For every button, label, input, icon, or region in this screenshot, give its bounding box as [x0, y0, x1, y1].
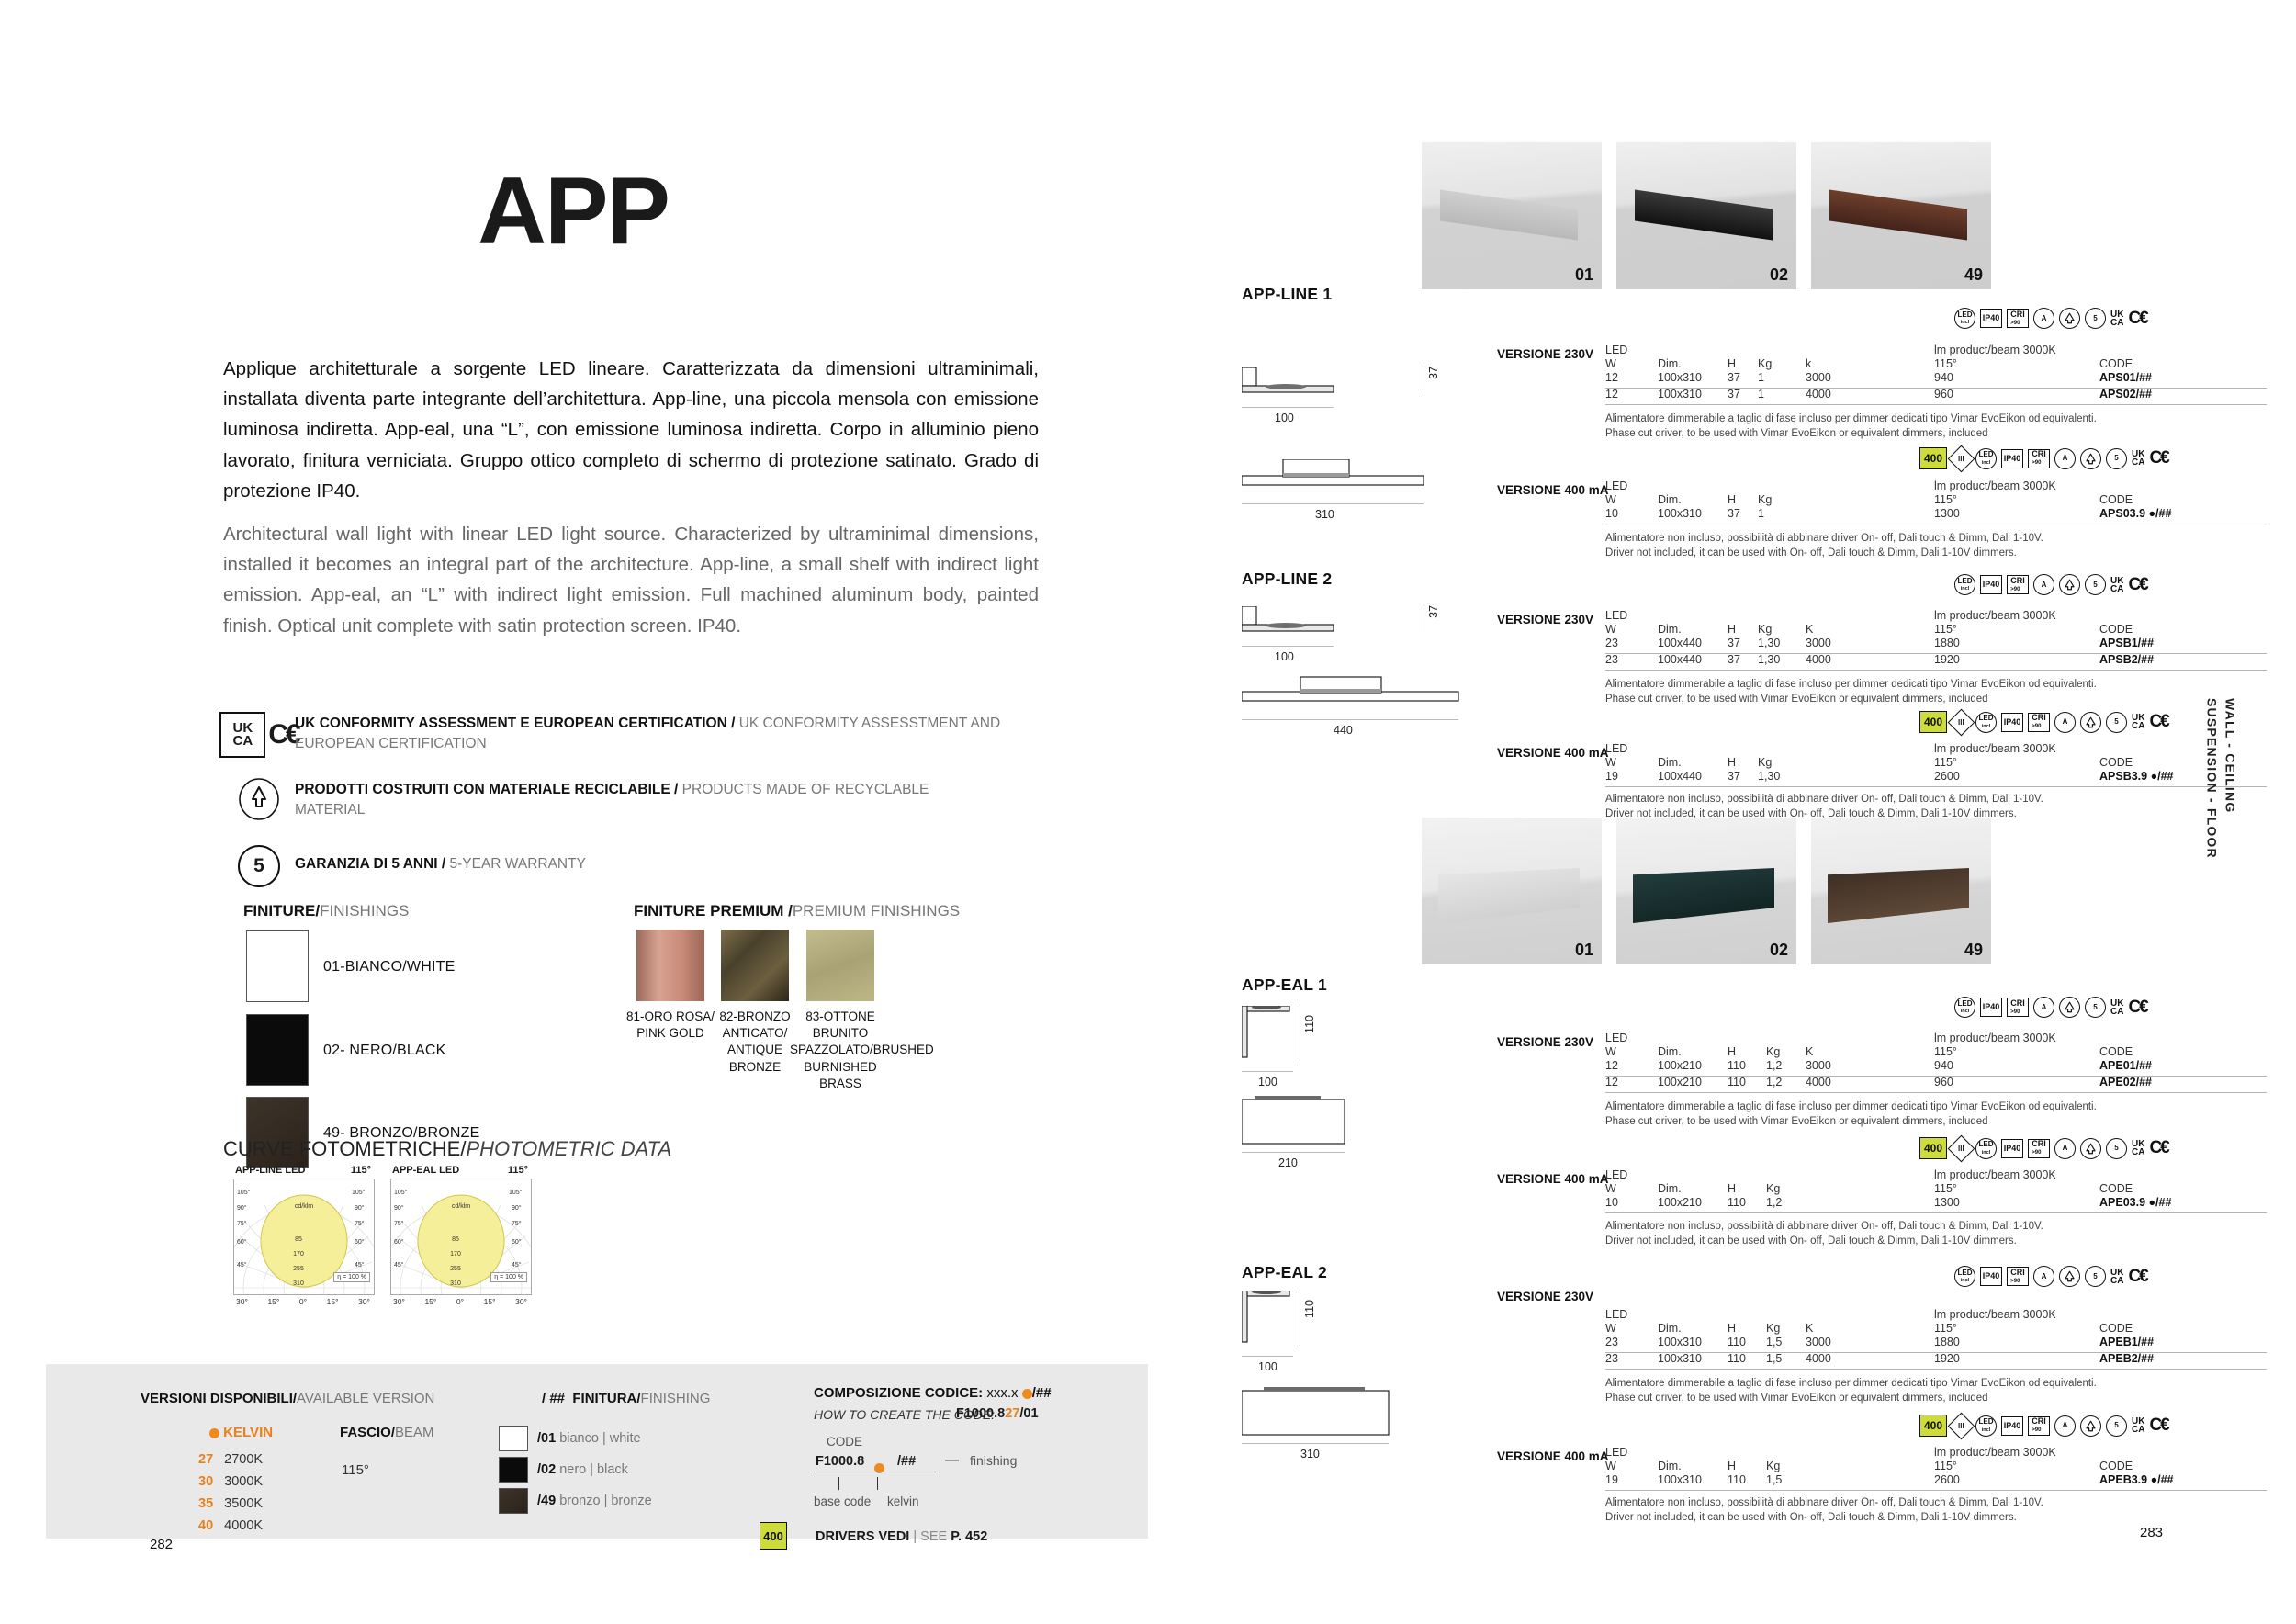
icon-row-app-eal-2-400ma: 400 III LEDincl IP40 CRI>90 A 5 UKCA C€	[1919, 1415, 2168, 1437]
recycle-icon	[2080, 1138, 2101, 1159]
kelvin-row-30: 303000K	[198, 1474, 263, 1489]
cri-icon: CRI>90	[2028, 1139, 2050, 1158]
model-label-app-line-2: APP-LINE 2	[1242, 570, 1332, 589]
cri-icon: CRI>90	[2028, 1416, 2050, 1436]
polar-beam-1: 115°	[508, 1165, 528, 1176]
premium-label-83: 83-OTTONE BRUNITO SPAZZOLATO/BRUSHED BUR…	[790, 1009, 891, 1092]
ip40-icon: IP40	[1980, 309, 2002, 328]
svg-text:75°: 75°	[512, 1220, 522, 1227]
cri-icon: CRI>90	[2007, 1267, 2029, 1286]
icon-row-app-line-2-400ma: 400 III LEDincl IP40 CRI>90 A 5 UKCA C€	[1919, 711, 2168, 733]
polar-efficiency-0: η = 100 %	[333, 1272, 370, 1282]
cert-row-warranty: 5 GARANZIA DI 5 ANNI / 5-YEAR WARRANTY	[223, 845, 1002, 887]
led-included-icon: LEDincl	[1975, 448, 1997, 469]
description-italian: Applique architetturale a sorgente LED l…	[223, 354, 1039, 506]
class-a-crossed-icon: A	[2054, 448, 2076, 469]
cri-icon: CRI>90	[2007, 309, 2029, 328]
photo-app-line-49: 49	[1811, 142, 1991, 289]
icon-row-app-eal-1-400ma: 400 III LEDincl IP40 CRI>90 A 5 UKCA C€	[1919, 1137, 2168, 1159]
svg-text:60°: 60°	[394, 1238, 404, 1246]
class-iii-icon: III	[1948, 445, 1975, 472]
finishing-label-02: /02 nero | black	[537, 1462, 628, 1477]
cri-icon: CRI>90	[2028, 449, 2050, 468]
finishing-label-01: /01 bianco | white	[537, 1431, 641, 1446]
recycle-icon	[223, 778, 295, 820]
class-a-crossed-icon: A	[2054, 1138, 2076, 1159]
version-label-eal1-230v: VERSIONE 230V	[1497, 1035, 1593, 1049]
ukca-icon: UKCA	[2132, 1140, 2144, 1156]
ce-icon: C€	[2128, 575, 2146, 595]
warranty-5-icon: 5	[2106, 448, 2127, 469]
led-included-icon: LEDincl	[1975, 1138, 1997, 1159]
ukca-icon: UKCA	[2110, 1269, 2123, 1285]
version-label-eal2-400ma: VERSIONE 400 mA	[1497, 1449, 1609, 1463]
recycle-icon	[2080, 448, 2101, 469]
finishing-label-49: /49 bronzo | bronze	[537, 1494, 652, 1508]
warranty-5-icon: 5	[2085, 1266, 2106, 1287]
finishes-heading: FINITURE/FINISHINGS	[243, 902, 409, 920]
finish-swatch-02	[246, 1014, 309, 1086]
ip40-icon: IP40	[2001, 1139, 2023, 1158]
led-included-icon: LEDincl	[1954, 997, 1975, 1018]
page-number-right: 283	[2140, 1525, 2163, 1540]
composition-dot-icon	[1022, 1389, 1032, 1399]
polar-title-1: APP-EAL LED	[392, 1165, 459, 1176]
icon-row-app-line-1-230v: LEDincl IP40 CRI>90 A 5 UKCA C€	[1954, 308, 2147, 329]
ce-icon: C€	[2149, 1415, 2167, 1436]
version-label-line1-400ma: VERSIONE 400 mA	[1497, 483, 1609, 497]
svg-text:60°: 60°	[512, 1238, 522, 1246]
svg-text:60°: 60°	[355, 1238, 365, 1246]
premium-finishes-heading: FINITURE PREMIUM /PREMIUM FINISHINGS	[634, 902, 960, 920]
version-label-eal2-230v: VERSIONE 230V	[1497, 1290, 1593, 1303]
cri-icon: CRI>90	[2028, 713, 2050, 732]
svg-text:45°: 45°	[237, 1261, 247, 1269]
photo-app-line-02: 02	[1616, 142, 1796, 289]
ce-icon: C€	[2128, 1267, 2146, 1287]
cri-icon: CRI>90	[2007, 998, 2029, 1017]
page-title: APP	[478, 164, 669, 259]
version-label-line2-230v: VERSIONE 230V	[1497, 613, 1593, 626]
polar-axis-1: 30° 15° 0° 15° 30°	[390, 1295, 530, 1306]
warranty-5-icon: 5	[2106, 1138, 2127, 1159]
svg-text:cd/klm: cd/klm	[452, 1203, 470, 1210]
class-a-icon: A	[2033, 308, 2054, 329]
class-iii-icon: III	[1948, 1134, 1975, 1162]
model-label-app-line-1: APP-LINE 1	[1242, 285, 1332, 304]
polar-title-0: APP-LINE LED	[235, 1165, 305, 1176]
ip40-icon: IP40	[2001, 449, 2023, 468]
note-eal2-230v: Alimentatore dimmerabile a taglio di fas…	[1605, 1376, 2097, 1406]
svg-text:90°: 90°	[394, 1204, 404, 1212]
code-dash: —	[945, 1452, 959, 1468]
cert-light-2: 5-YEAR WARRANTY	[450, 856, 586, 872]
recycle-icon	[2059, 308, 2080, 329]
ce-icon: C€	[2149, 712, 2167, 732]
cert-bold-1: PRODOTTI COSTRUITI CON MATERIALE RECICLA…	[295, 782, 682, 797]
note-line1-230v: Alimentatore dimmerabile a taglio di fas…	[1605, 412, 2097, 442]
ce-icon: C€	[268, 719, 298, 750]
finishing-swatch-02	[499, 1457, 528, 1483]
ce-icon: C€	[2149, 1138, 2167, 1158]
note-line1-400ma: Alimentatore non incluso, possibilità di…	[1605, 531, 2043, 561]
recycle-icon	[2059, 997, 2080, 1018]
kelvin-dot-icon	[209, 1428, 219, 1438]
svg-text:85: 85	[295, 1236, 302, 1243]
warranty-5-icon: 5	[2085, 997, 2106, 1018]
svg-text:75°: 75°	[394, 1220, 404, 1227]
svg-text:105°: 105°	[352, 1189, 366, 1196]
ip40-icon: IP40	[1980, 1267, 2002, 1286]
icon-row-app-eal-1-230v: LEDincl IP40 CRI>90 A 5 UKCA C€	[1954, 997, 2147, 1018]
note-line2-230v: Alimentatore dimmerabile a taglio di fas…	[1605, 677, 2097, 707]
svg-text:45°: 45°	[512, 1261, 522, 1269]
recycle-icon	[2059, 1266, 2080, 1287]
premium-swatch-83	[806, 930, 874, 1001]
premium-swatch-82	[721, 930, 789, 1001]
section-side-label: WALL - CEILINGSUSPENSION - FLOOR	[2202, 698, 2240, 859]
class-a-crossed-icon: A	[2054, 712, 2076, 733]
ip40-icon: IP40	[1980, 575, 2002, 594]
polar-axis-0: 30° 15° 0° 15° 30°	[233, 1295, 373, 1306]
kelvin-heading: KELVIN	[209, 1425, 273, 1440]
svg-text:45°: 45°	[394, 1261, 404, 1269]
code-word: CODE	[827, 1435, 862, 1449]
svg-text:105°: 105°	[509, 1189, 523, 1196]
photo-app-eal-02: 02	[1616, 818, 1796, 964]
versions-heading: VERSIONI DISPONIBILI/AVAILABLE VERSION	[141, 1391, 434, 1406]
badge-400-icon: 400	[1919, 1137, 1947, 1159]
class-iii-icon: III	[1948, 1412, 1975, 1439]
warranty-5-icon: 5	[2106, 1415, 2127, 1437]
icon-row-app-line-2-230v: LEDincl IP40 CRI>90 A 5 UKCA C€	[1954, 574, 2147, 595]
warranty-5-icon: 5	[2106, 712, 2127, 733]
ip40-icon: IP40	[2001, 713, 2023, 732]
note-eal1-230v: Alimentatore dimmerabile a taglio di fas…	[1605, 1100, 2097, 1130]
ce-icon: C€	[2149, 448, 2167, 468]
svg-text:170: 170	[450, 1251, 461, 1257]
class-a-icon: A	[2033, 997, 2054, 1018]
led-included-icon: LEDincl	[1954, 1266, 1975, 1287]
class-a-icon: A	[2033, 1266, 2054, 1287]
svg-text:105°: 105°	[394, 1189, 408, 1196]
ukca-icon: UKCA	[2110, 999, 2123, 1016]
kelvin-row-27: 272700K	[198, 1452, 263, 1467]
finishing-heading: / ## FINITURA/FINISHING	[542, 1391, 710, 1406]
polar-chart-app-eal: APP-EAL LED 115° cd/klm 85 170	[390, 1165, 530, 1306]
polar-chart-app-line: APP-LINE LED 115° cd/klm 85 170	[233, 1165, 373, 1306]
recycle-icon	[2059, 574, 2080, 595]
premium-swatch-81	[636, 930, 704, 1001]
ukca-icon: UKCA	[2132, 1417, 2144, 1434]
finish-swatch-01	[246, 930, 309, 1002]
svg-text:75°: 75°	[355, 1220, 365, 1227]
ukca-icon: UKCA	[2132, 714, 2144, 730]
finishing-swatch-49	[499, 1488, 528, 1514]
ce-icon: C€	[2128, 309, 2146, 329]
ce-icon: C€	[2128, 998, 2146, 1018]
code-composition-heading: COMPOSIZIONE CODICE: xxx.x /##	[814, 1385, 1052, 1401]
badge-400-icon: 400	[1919, 447, 1947, 469]
cert-row-ukca-ce: UKCA C€ UK CONFORMITY ASSESSMENT E EUROP…	[223, 712, 1002, 758]
class-iii-icon: III	[1948, 708, 1975, 736]
kelvin-row-35: 353500K	[198, 1496, 263, 1511]
model-label-app-eal-1: APP-EAL 1	[1242, 976, 1327, 995]
code-base: F1000.8	[816, 1454, 864, 1469]
badge-400-icon: 400	[1919, 711, 1947, 733]
version-label-line2-400ma: VERSIONE 400 mA	[1497, 746, 1609, 760]
catalog-spread: APP Applique architetturale a sorgente L…	[0, 0, 2296, 1624]
icon-row-app-eal-2-230v: LEDincl IP40 CRI>90 A 5 UKCA C€	[1954, 1266, 2147, 1287]
code-kelvin-dot-icon	[874, 1460, 884, 1477]
svg-text:cd/klm: cd/klm	[295, 1203, 313, 1210]
note-eal2-400ma: Alimentatore non incluso, possibilità di…	[1605, 1495, 2043, 1526]
svg-text:90°: 90°	[512, 1204, 522, 1212]
svg-text:170: 170	[293, 1251, 304, 1257]
beam-heading: FASCIO/BEAM	[340, 1425, 434, 1440]
code-finishing-word: finishing	[970, 1453, 1017, 1468]
warranty-5-icon: 5	[2085, 574, 2106, 595]
ukca-icon: UKCA	[2110, 577, 2123, 593]
finish-label-02: 02- NERO/BLACK	[323, 1043, 446, 1059]
svg-text:255: 255	[293, 1266, 304, 1272]
photometric-heading: CURVE FOTOMETRICHE/PHOTOMETRIC DATA	[223, 1137, 671, 1161]
led-included-icon: LEDincl	[1975, 1415, 1997, 1437]
polar-beam-0: 115°	[351, 1165, 371, 1176]
svg-text:90°: 90°	[237, 1204, 247, 1212]
howto-example-code: F1000.827/01	[956, 1406, 1039, 1421]
note-eal1-400ma: Alimentatore non incluso, possibilità di…	[1605, 1219, 2043, 1249]
photo-app-eal-01: 01	[1422, 818, 1602, 964]
model-label-app-eal-2: APP-EAL 2	[1242, 1263, 1327, 1282]
drivers-reference: DRIVERS VEDI | SEE P. 452	[816, 1529, 987, 1544]
drivers-400-badge: 400	[760, 1522, 787, 1550]
warranty-5-icon: 5	[2085, 308, 2106, 329]
cert-bold-2: GARANZIA DI 5 ANNI /	[295, 856, 450, 872]
recycle-icon	[2080, 712, 2101, 733]
led-included-icon: LEDincl	[1975, 712, 1997, 733]
finish-label-01: 01-BIANCO/WHITE	[323, 959, 455, 976]
recycle-icon	[2080, 1415, 2101, 1437]
cert-row-recycle: PRODOTTI COSTRUITI CON MATERIALE RECICLA…	[223, 778, 1002, 821]
description-english: Architectural wall light with linear LED…	[223, 519, 1039, 641]
legend-kelvin: kelvin	[887, 1494, 919, 1508]
svg-text:310: 310	[450, 1280, 461, 1287]
led-included-icon: LEDincl	[1954, 308, 1975, 329]
ukca-icon: UKCA	[2110, 310, 2123, 327]
svg-text:75°: 75°	[237, 1220, 247, 1227]
beam-value: 115°	[342, 1462, 369, 1478]
kelvin-row-40: 404000K	[198, 1518, 263, 1533]
ip40-icon: IP40	[2001, 1416, 2023, 1436]
version-label-line1-230v: VERSIONE 230V	[1497, 347, 1593, 361]
svg-text:90°: 90°	[355, 1204, 365, 1212]
legend-base-code: base code	[814, 1494, 871, 1508]
svg-text:45°: 45°	[355, 1261, 365, 1269]
version-label-eal1-400ma: VERSIONE 400 mA	[1497, 1172, 1609, 1186]
polar-efficiency-1: η = 100 %	[490, 1272, 527, 1282]
svg-text:105°: 105°	[237, 1189, 251, 1196]
cert-bold-0: UK CONFORMITY ASSESSMENT E EUROPEAN CERT…	[295, 716, 739, 731]
ukca-ce-icon: UKCA C€	[223, 712, 295, 758]
class-a-crossed-icon: A	[2054, 1415, 2076, 1437]
svg-text:85: 85	[452, 1236, 459, 1243]
ukca-icon: UKCA	[2132, 450, 2144, 467]
svg-text:255: 255	[450, 1266, 461, 1272]
led-included-icon: LEDincl	[1954, 574, 1975, 595]
photo-app-line-01: 01	[1422, 142, 1602, 289]
finishing-swatch-01	[499, 1426, 528, 1451]
class-a-icon: A	[2033, 574, 2054, 595]
svg-text:60°: 60°	[237, 1238, 247, 1246]
badge-400-icon: 400	[1919, 1415, 1947, 1437]
photo-app-eal-49: 49	[1811, 818, 1991, 964]
cri-icon: CRI>90	[2007, 575, 2029, 594]
code-finishing-token: /##	[897, 1454, 916, 1469]
icon-row-app-line-1-400ma: 400 III LEDincl IP40 CRI>90 A 5 UKCA C€	[1919, 447, 2168, 469]
ip40-icon: IP40	[1980, 998, 2002, 1017]
warranty-5-icon: 5	[223, 845, 295, 887]
page-number-left: 282	[150, 1537, 173, 1552]
svg-text:310: 310	[293, 1280, 304, 1287]
